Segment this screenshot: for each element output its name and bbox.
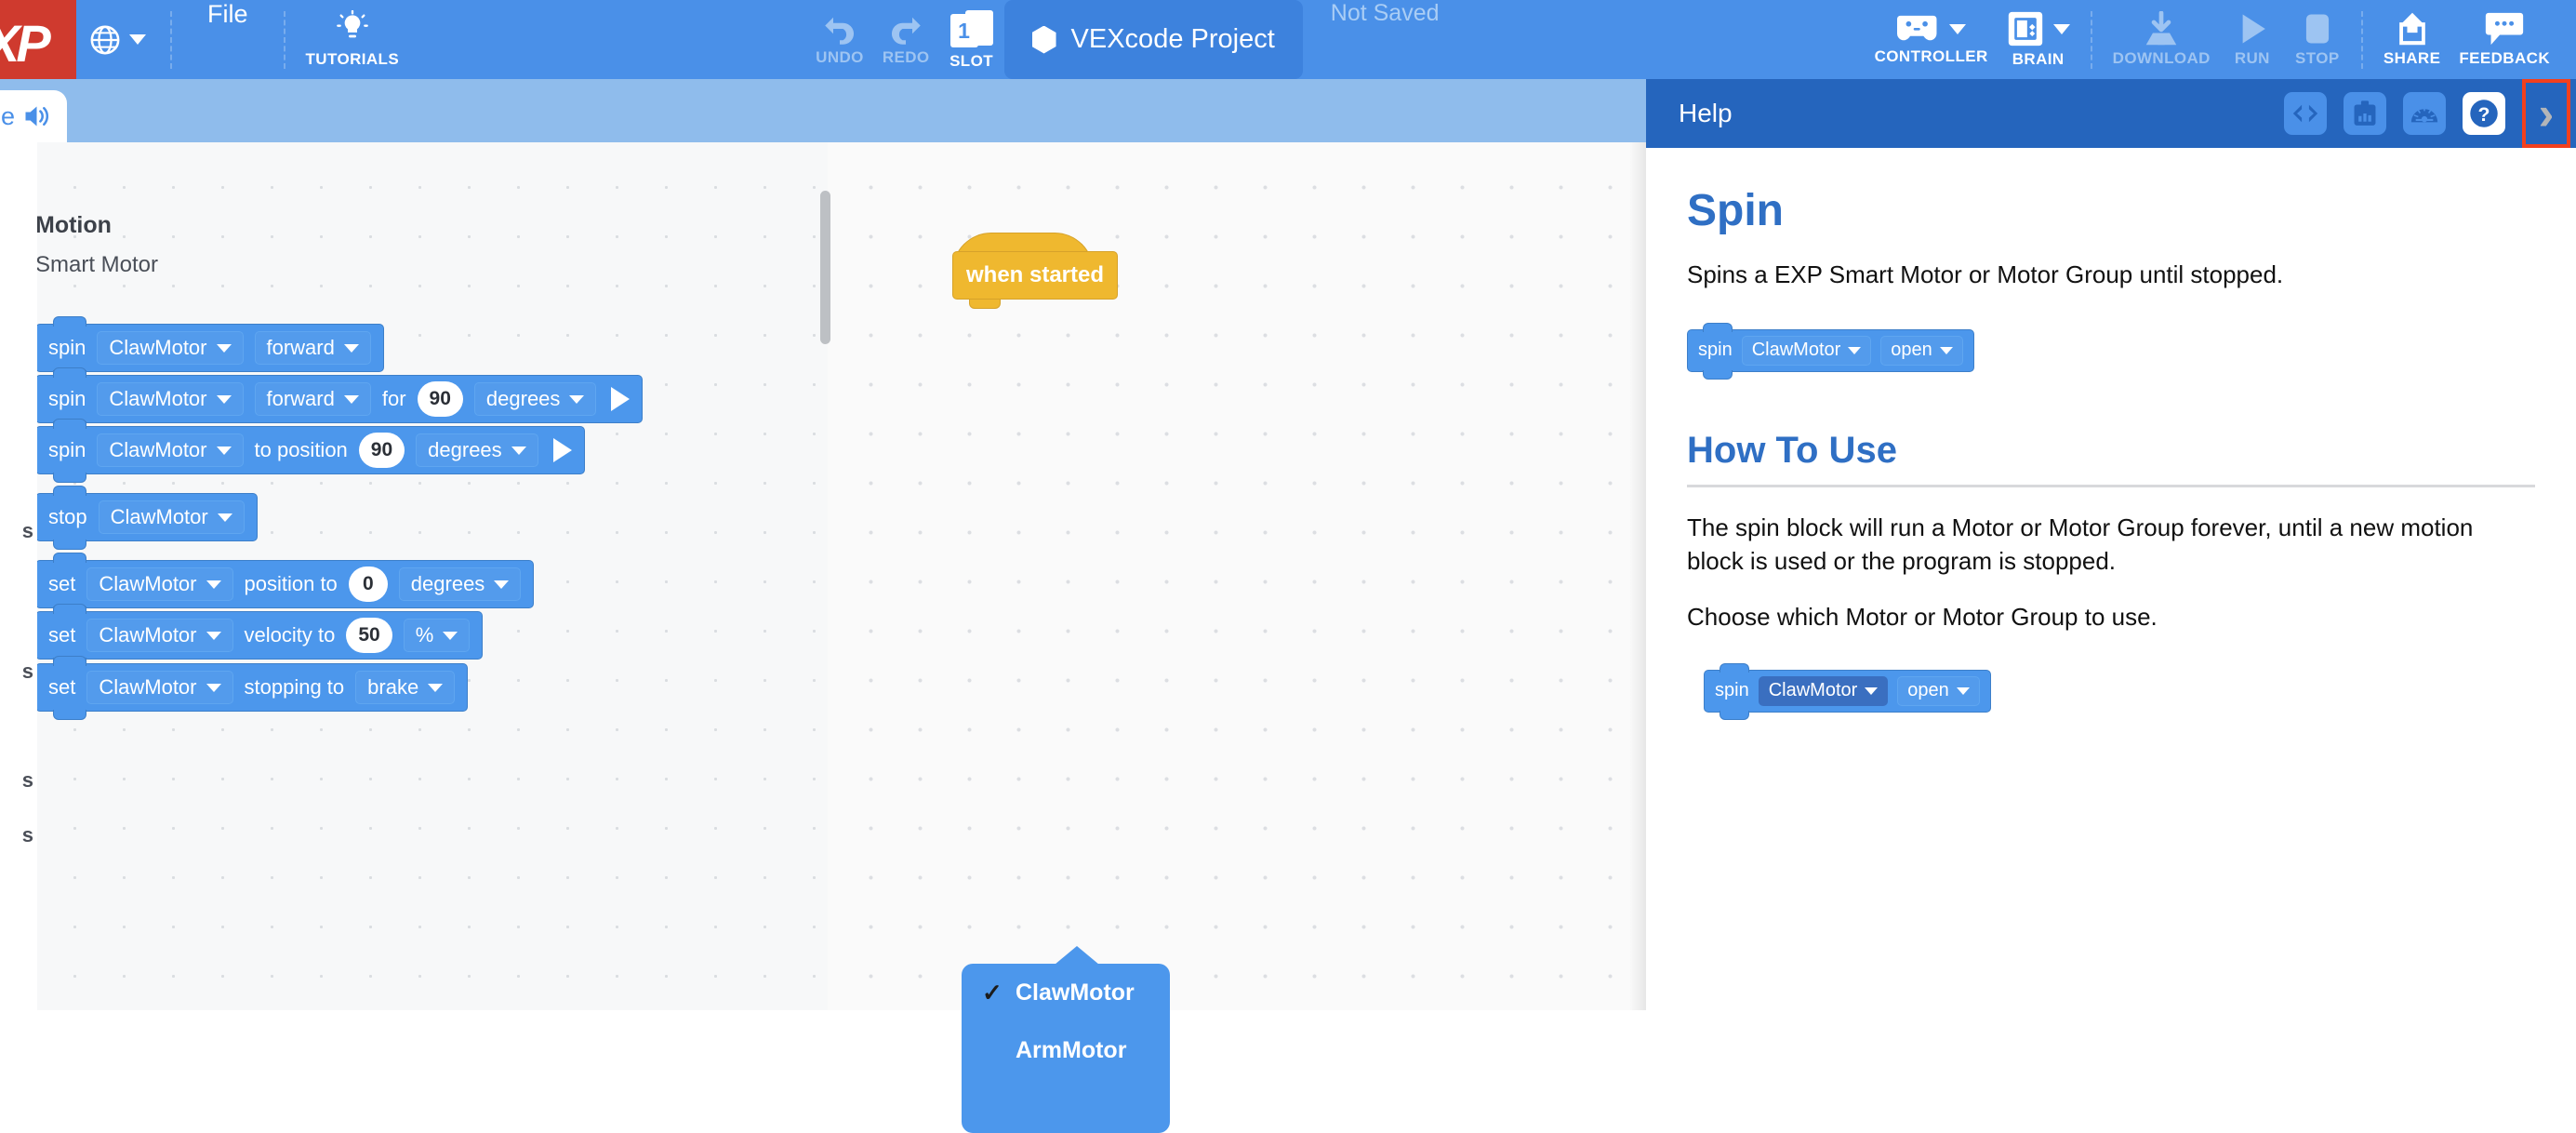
help-panel-title: Help	[1679, 99, 2284, 128]
block-lead-label: set	[48, 572, 75, 596]
block-lead-label: spin	[1698, 340, 1733, 361]
unit-dropdown[interactable]: degrees	[399, 567, 522, 601]
dropdown-pointer	[1055, 946, 1099, 965]
project-name: VEXcode Project	[1071, 24, 1275, 55]
slot-selector[interactable]: 1 SLOT	[939, 0, 1004, 79]
chevron-down-icon	[129, 34, 146, 45]
undo-button[interactable]: UNDO	[806, 0, 873, 79]
option-dropdown[interactable]: open	[1897, 676, 1980, 706]
top-toolbar: XP File TUTORIALS UNDO	[0, 0, 2576, 79]
toolbar-spacer-right	[1467, 0, 1866, 79]
direction-dropdown[interactable]: forward	[255, 331, 371, 365]
motor-dropdown-value: ClawMotor	[1769, 680, 1858, 701]
divider	[1687, 485, 2535, 487]
toolbar-spacer	[408, 0, 806, 79]
motor-dropdown[interactable]: ClawMotor	[97, 382, 243, 416]
redo-label: REDO	[883, 48, 930, 67]
unit-dropdown-value: %	[416, 623, 434, 647]
file-menu-button[interactable]: File	[183, 0, 272, 79]
value-input[interactable]: 0	[349, 566, 388, 602]
category-label-clipped-1[interactable]: s	[0, 519, 37, 543]
block-body[interactable]: spinClawMotorforward	[37, 324, 384, 372]
data-monitor-icon[interactable]	[2344, 92, 2386, 135]
dropdown-option-label: ClawMotor	[1016, 980, 1135, 1006]
play-block-icon[interactable]	[611, 387, 630, 411]
toolbox-scrollbar[interactable]	[820, 191, 830, 344]
motor-dropdown-open[interactable]: ClawMotor	[1759, 676, 1889, 706]
brain-button[interactable]: BRAIN	[1998, 0, 2079, 79]
download-icon	[2141, 11, 2182, 47]
project-name-button[interactable]: VEXcode Project	[1004, 0, 1303, 79]
motor-dropdown-value: ClawMotor	[99, 623, 196, 647]
slot-label: SLOT	[949, 52, 993, 71]
divider	[284, 11, 285, 69]
speaker-icon	[22, 102, 54, 130]
motor-dropdown[interactable]: ClawMotor	[99, 500, 245, 534]
block-body[interactable]: setClawMotorvelocity to50%	[37, 611, 483, 660]
option-dropdown[interactable]: open	[1880, 336, 1963, 366]
block-lead-label: spin	[1715, 680, 1749, 701]
chevron-down-icon	[217, 395, 232, 404]
direction-dropdown[interactable]: forward	[255, 382, 371, 416]
chevron-down-icon	[428, 684, 443, 692]
chevron-down-icon	[2053, 24, 2070, 34]
category-label-clipped-2[interactable]: s	[0, 660, 37, 684]
chevron-down-icon	[1940, 347, 1953, 354]
dropdown-option-label: ArmMotor	[1016, 1037, 1126, 1064]
dropdown-option-clawmotor[interactable]: ✓ ClawMotor	[962, 964, 1170, 1021]
block-lead-label: spin	[48, 387, 86, 411]
block-body[interactable]: setClawMotorposition to0degrees	[37, 560, 534, 608]
feedback-label: FEEDBACK	[2459, 49, 2550, 68]
question-mark-icon[interactable]: ?	[2463, 92, 2505, 135]
chevron-down-icon	[569, 395, 584, 404]
block-body[interactable]: setClawMotorstopping tobrake	[37, 663, 468, 712]
chevron-down-icon	[1957, 687, 1970, 695]
play-icon	[2234, 11, 2271, 47]
hat-notch	[969, 300, 1001, 309]
redo-button[interactable]: REDO	[873, 0, 939, 79]
unit-dropdown-value: degrees	[428, 438, 502, 462]
dropdown-option-armmotor[interactable]: ArmMotor	[962, 1021, 1170, 1079]
unit-dropdown[interactable]: degrees	[474, 382, 597, 416]
option-dropdown-value: open	[1891, 340, 1932, 361]
block-mid-label: position to	[245, 572, 338, 596]
help-panel-body: Spin Spins a EXP Smart Motor or Motor Gr…	[1646, 148, 2576, 1010]
brain-chip-icon	[2007, 10, 2044, 47]
help-paragraph-1: The spin block will run a Motor or Motor…	[1687, 512, 2535, 579]
toolbox-block-spin[interactable]: spinClawMotorforward	[37, 324, 384, 372]
chevron-down-icon	[1949, 24, 1966, 34]
direction-dropdown-value: forward	[267, 336, 335, 360]
run-label: RUN	[2235, 49, 2270, 68]
motor-dropdown[interactable]: ClawMotor	[86, 567, 232, 601]
share-label: SHARE	[2383, 49, 2441, 68]
hexagon-icon	[1032, 26, 1056, 54]
chevron-down-icon	[217, 447, 232, 455]
block-lead-label: spin	[48, 336, 86, 360]
check-icon: ✓	[982, 979, 1003, 1007]
stop-button[interactable]: STOP	[2285, 0, 2350, 79]
stop-label: STOP	[2295, 49, 2340, 68]
value-input[interactable]: 90	[359, 433, 405, 468]
chevron-down-icon	[344, 395, 359, 404]
chevron-down-icon	[443, 632, 458, 640]
motor-dropdown[interactable]: ClawMotor	[1742, 336, 1872, 366]
block-mid-label: velocity to	[245, 623, 336, 647]
motor-dropdown[interactable]: ClawMotor	[97, 331, 243, 365]
download-label: DOWNLOAD	[2113, 49, 2211, 68]
chevron-down-icon	[206, 684, 221, 692]
speech-bubble-icon	[2485, 11, 2524, 47]
redo-icon	[886, 12, 925, 46]
value-input[interactable]: 90	[418, 381, 463, 417]
block-body[interactable]: spinClawMotorforwardfor90degrees	[37, 375, 643, 423]
collapse-help-panel-button[interactable]: ›	[2522, 79, 2570, 148]
help-demo-block-row: spin ClawMotor open	[1704, 670, 2535, 713]
chevron-down-icon	[344, 344, 359, 353]
when-started-block[interactable]: when started	[952, 233, 1118, 300]
toolbox-block-set-vel[interactable]: setClawMotorvelocity to50%	[37, 611, 483, 660]
vex-logo: XP	[0, 0, 76, 79]
unit-dropdown[interactable]: degrees	[416, 433, 538, 467]
tab-strip: ode	[0, 79, 1646, 142]
block-mid-label: for	[382, 387, 406, 411]
slot-number: 1	[950, 14, 978, 47]
motor-dropdown-value: ClawMotor	[99, 572, 196, 596]
motor-dropdown-value: ClawMotor	[111, 505, 208, 529]
motor-dropdown-value: ClawMotor	[109, 336, 206, 360]
motor-dropdown-menu[interactable]: ✓ ClawMotor ArmMotor	[962, 964, 1170, 1133]
unit-dropdown[interactable]: %	[404, 619, 471, 652]
block-lead-label: set	[48, 675, 75, 700]
block-body[interactable]: stopClawMotor	[37, 493, 258, 541]
help-summary: Spins a EXP Smart Motor or Motor Group u…	[1687, 259, 2535, 292]
unit-dropdown[interactable]: brake	[355, 671, 455, 704]
chevron-right-icon: ›	[2539, 90, 2555, 137]
toolbox-block-spin-for[interactable]: spinClawMotorforwardfor90degrees	[37, 375, 643, 423]
toolbox-category-title: Motion	[37, 212, 112, 239]
language-selector[interactable]	[76, 0, 159, 79]
share-button[interactable]: SHARE	[2374, 0, 2450, 79]
help-panel-header: Help	[1646, 79, 2576, 148]
motor-dropdown[interactable]: ClawMotor	[86, 671, 232, 704]
help-heading: Spin	[1687, 185, 2535, 236]
code-icon[interactable]	[2284, 92, 2327, 135]
category-label-clipped-3[interactable]: s	[0, 768, 37, 793]
example-spin-block[interactable]: spin ClawMotor open	[1687, 329, 1974, 372]
category-label-clipped-4[interactable]: s	[0, 823, 37, 847]
option-dropdown-value: open	[1907, 680, 1949, 701]
tutorials-button[interactable]: TUTORIALS	[297, 0, 409, 79]
dot-grid	[828, 142, 1646, 1010]
vex-logo-text: XP	[0, 13, 47, 73]
chevron-down-icon	[218, 513, 232, 522]
motor-dropdown[interactable]: ClawMotor	[97, 433, 243, 467]
motor-dropdown-value: ClawMotor	[109, 438, 206, 462]
direction-dropdown-value: forward	[267, 387, 335, 411]
help-paragraph-2: Choose which Motor or Motor Group to use…	[1687, 601, 2535, 634]
share-icon	[2394, 11, 2431, 47]
block-body[interactable]: spinClawMotorto position90degrees	[37, 426, 585, 474]
block-lead-label: set	[48, 623, 75, 647]
controller-button[interactable]: CONTROLLER	[1866, 0, 1998, 79]
block-toolbox: Motion Smart Motor spinClawMotorforwards…	[37, 142, 828, 1010]
block-mid-label: to position	[255, 438, 348, 462]
download-button[interactable]: DOWNLOAD	[2104, 0, 2220, 79]
motor-dropdown[interactable]: ClawMotor	[86, 619, 232, 652]
toolbox-block-set-pos[interactable]: setClawMotorposition to0degrees	[37, 560, 534, 608]
play-block-icon[interactable]	[553, 438, 572, 462]
block-lead-label: stop	[48, 505, 87, 529]
save-status: Not Saved	[1303, 0, 1467, 79]
chevron-down-icon	[1865, 687, 1878, 695]
controller-icon	[1897, 13, 1940, 45]
tutorials-label: TUTORIALS	[306, 50, 400, 69]
svg-text:?: ?	[2478, 103, 2490, 126]
tab-code[interactable]: ode	[0, 90, 67, 142]
toolbox-block-stop[interactable]: stopClawMotor	[37, 493, 258, 541]
brain-label: BRAIN	[2012, 50, 2065, 69]
globe-icon	[89, 24, 121, 56]
undo-label: UNDO	[816, 48, 864, 67]
category-strip: s s s s	[0, 198, 37, 1010]
unit-dropdown-value: brake	[367, 675, 418, 700]
chevron-down-icon	[494, 580, 509, 589]
chevron-down-icon	[206, 632, 221, 640]
demo-spin-block[interactable]: spin ClawMotor open	[1704, 670, 1991, 713]
lightbulb-icon	[334, 10, 371, 47]
toolbox-block-set-stop[interactable]: setClawMotorstopping tobrake	[37, 663, 468, 712]
tab-code-label: ode	[0, 102, 15, 131]
controller-label: CONTROLLER	[1875, 47, 1988, 66]
when-started-label: when started	[952, 251, 1118, 300]
block-lead-label: spin	[48, 438, 86, 462]
divider	[170, 11, 172, 69]
dashboard-gauge-icon[interactable]	[2403, 92, 2446, 135]
feedback-button[interactable]: FEEDBACK	[2450, 0, 2559, 79]
motor-dropdown-value: ClawMotor	[109, 387, 206, 411]
divider	[2091, 11, 2092, 69]
how-to-use-heading: How To Use	[1687, 430, 2535, 472]
unit-dropdown-value: degrees	[411, 572, 485, 596]
workspace-canvas[interactable]	[828, 142, 1646, 1010]
help-example-block-row: spin ClawMotor open	[1687, 329, 2535, 372]
toolbox-block-spin-to[interactable]: spinClawMotorto position90degrees	[37, 426, 585, 474]
block-mid-label: stopping to	[245, 675, 345, 700]
motor-dropdown-value: ClawMotor	[99, 675, 196, 700]
stop-icon	[2301, 11, 2334, 47]
toolbox-subcategory-title: Smart Motor	[37, 252, 158, 278]
help-panel: Help	[1646, 79, 2576, 1010]
unit-dropdown-value: degrees	[486, 387, 561, 411]
chevron-down-icon	[206, 580, 221, 589]
undo-icon	[820, 12, 859, 46]
slot-icon: 1	[950, 8, 993, 49]
run-button[interactable]: RUN	[2220, 0, 2285, 79]
chevron-down-icon	[1848, 347, 1861, 354]
divider	[2361, 11, 2363, 69]
chevron-down-icon	[217, 344, 232, 353]
chevron-down-icon	[511, 447, 526, 455]
value-input[interactable]: 50	[346, 618, 392, 653]
motor-dropdown-value: ClawMotor	[1752, 340, 1841, 361]
